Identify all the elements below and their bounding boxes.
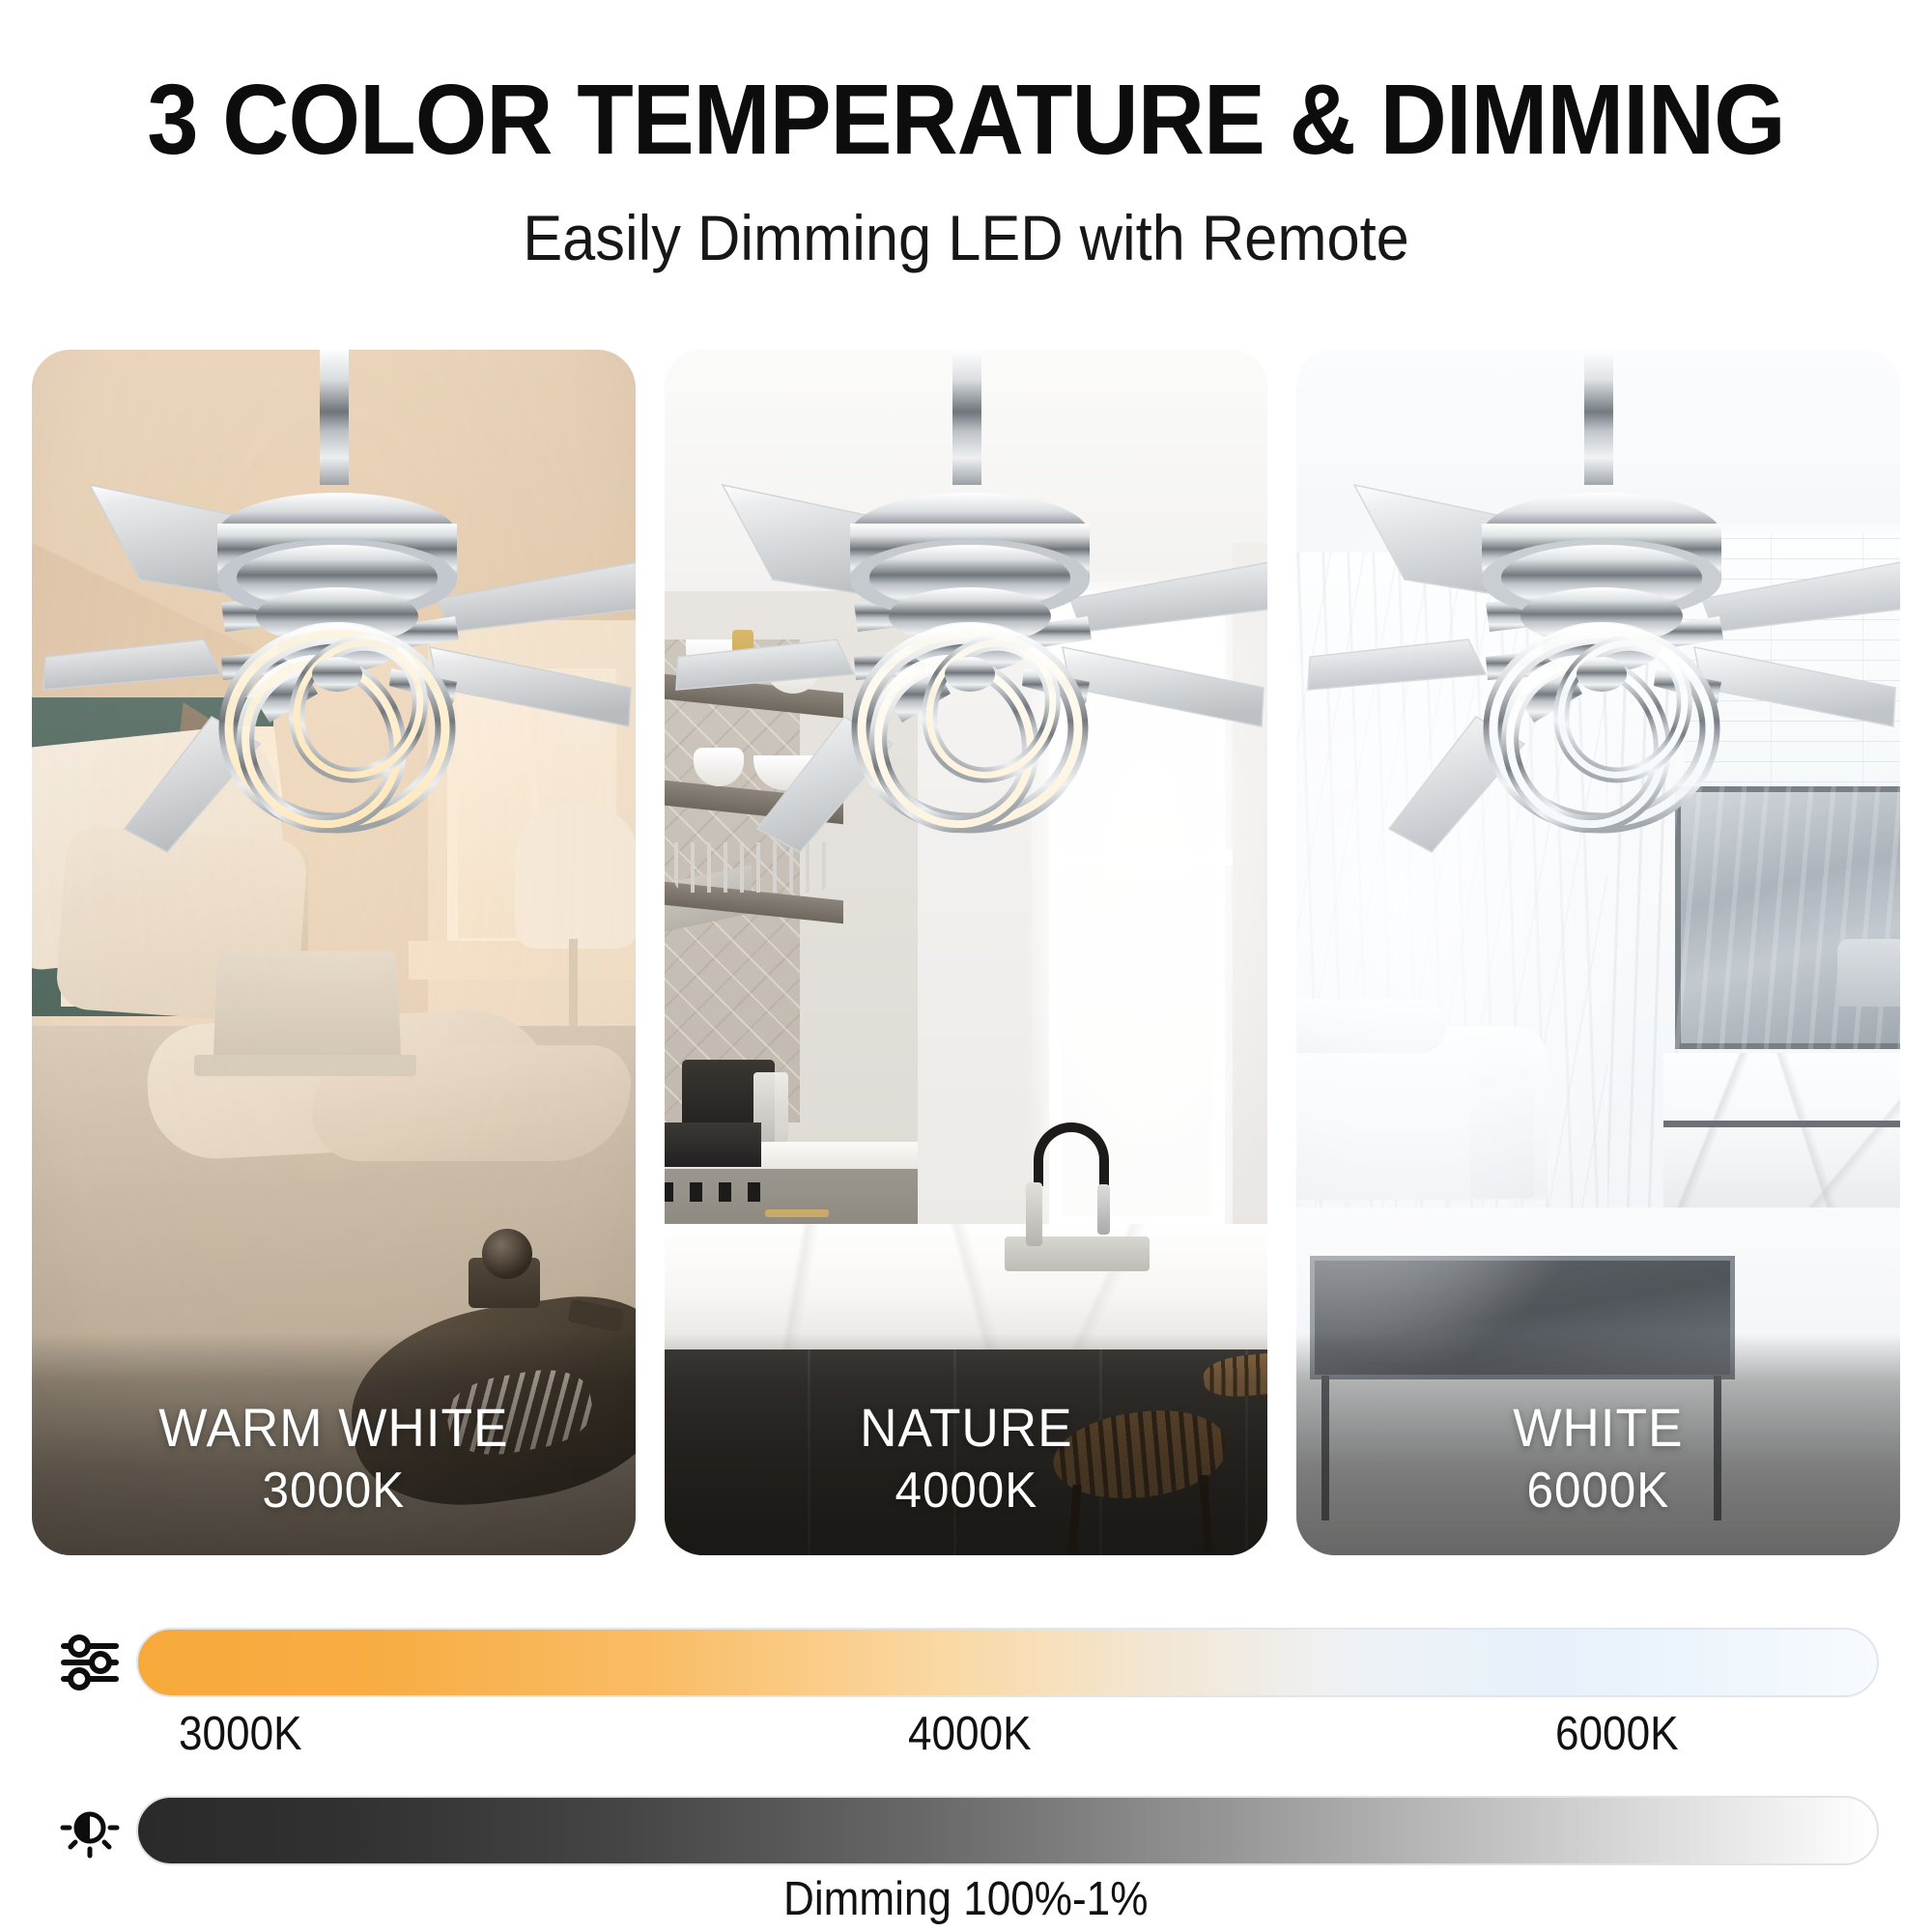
dimming-slider-row[interactable] bbox=[53, 1794, 1879, 1867]
tick-3000k: 3000K bbox=[179, 1707, 302, 1761]
slider-section: 3000K 4000K 6000K bbox=[0, 1599, 1932, 1932]
faucet bbox=[1034, 1122, 1109, 1186]
caption-warm-white: WARM WHITE 3000K bbox=[32, 1398, 636, 1520]
caption-nature: NATURE 4000K bbox=[665, 1398, 1268, 1520]
panel-kelvin: 3000K bbox=[47, 1463, 620, 1520]
ceiling-fan-nature bbox=[665, 350, 1268, 891]
tick-4000k: 4000K bbox=[908, 1707, 1032, 1761]
caption-white: WHITE 6000K bbox=[1296, 1398, 1900, 1520]
dimming-label-wrap: Dimming 100%-1% bbox=[0, 1872, 1932, 1926]
infographic-page: 3 COLOR TEMPERATURE & DIMMING Easily Dim… bbox=[0, 0, 1932, 1932]
card-warm-white[interactable]: WARM WHITE 3000K bbox=[32, 350, 636, 1555]
panel-name: WARM WHITE bbox=[47, 1398, 620, 1458]
color-temperature-gradient-bar[interactable] bbox=[136, 1628, 1879, 1697]
ceiling-fan-white bbox=[1296, 350, 1900, 891]
panel-kelvin: 6000K bbox=[1312, 1463, 1885, 1520]
color-temperature-card-grid: WARM WHITE 3000K bbox=[32, 350, 1900, 1555]
card-white[interactable]: WHITE 6000K bbox=[1296, 350, 1900, 1555]
temperature-tick-labels: 3000K 4000K 6000K bbox=[0, 1707, 1932, 1767]
tick-6000k: 6000K bbox=[1555, 1707, 1679, 1761]
panel-name: WHITE bbox=[1312, 1398, 1885, 1458]
dimming-label: Dimming 100%-1% bbox=[783, 1872, 1148, 1926]
color-temperature-slider-row[interactable] bbox=[53, 1626, 1879, 1699]
panel-name: NATURE bbox=[679, 1398, 1252, 1458]
ceiling-fan-warm bbox=[32, 350, 636, 891]
header: 3 COLOR TEMPERATURE & DIMMING Easily Dim… bbox=[0, 0, 1932, 270]
dimming-gradient-bar[interactable] bbox=[136, 1796, 1879, 1865]
brightness-icon bbox=[53, 1794, 127, 1867]
page-title: 3 COLOR TEMPERATURE & DIMMING bbox=[68, 70, 1864, 169]
page-subtitle: Easily Dimming LED with Remote bbox=[68, 206, 1864, 270]
panel-kelvin: 4000K bbox=[679, 1463, 1252, 1520]
card-nature[interactable]: NATURE 4000K bbox=[665, 350, 1268, 1555]
sliders-icon bbox=[53, 1626, 127, 1699]
cooktop bbox=[665, 1122, 761, 1167]
